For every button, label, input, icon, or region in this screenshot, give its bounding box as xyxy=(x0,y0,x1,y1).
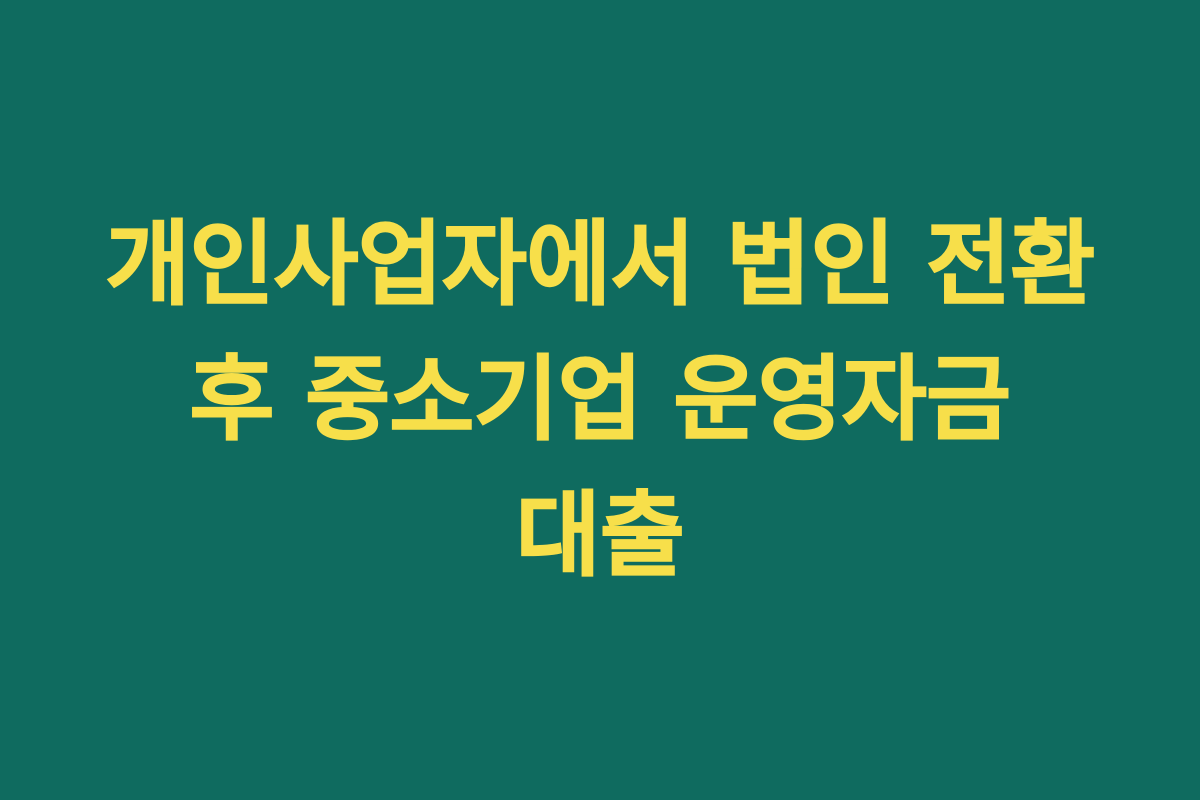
banner-card: 개인사업자에서 법인 전환 후 중소기업 운영자금 대출 xyxy=(0,0,1200,800)
banner-title: 개인사업자에서 법인 전환 후 중소기업 운영자금 대출 xyxy=(95,197,1105,603)
